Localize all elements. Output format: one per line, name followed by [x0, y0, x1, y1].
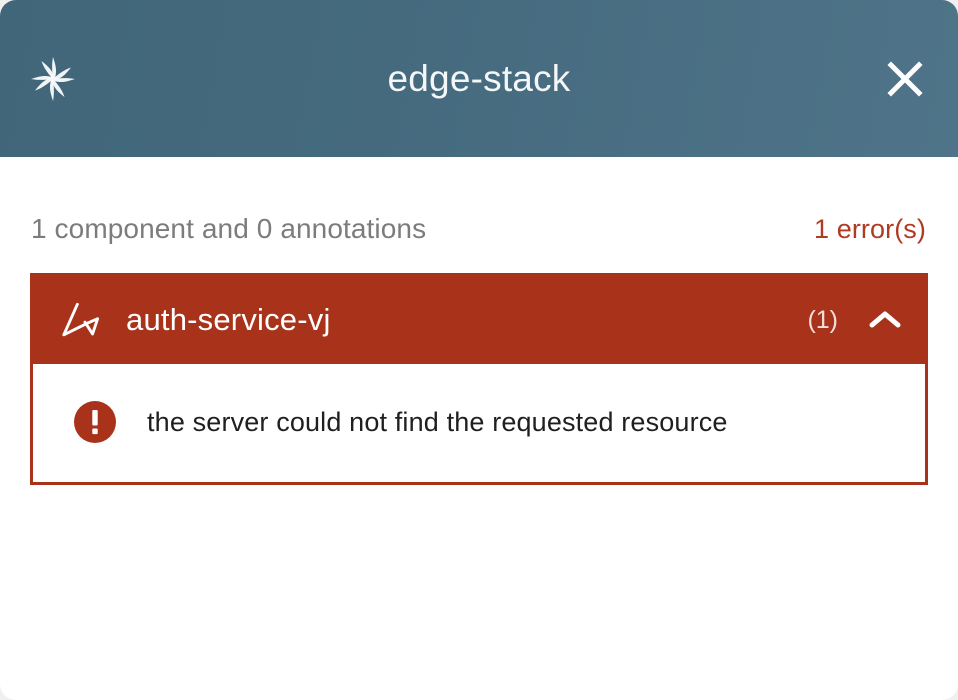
ambassador-delta-icon	[60, 301, 126, 339]
component-header-row[interactable]: auth-service-vj (1)	[30, 273, 928, 367]
component-error-count: (1)	[807, 306, 838, 335]
component-card: auth-service-vj (1)	[30, 273, 928, 485]
error-list: the server could not find the requested …	[33, 364, 925, 482]
page-title: edge-stack	[0, 58, 958, 100]
close-icon	[885, 59, 925, 99]
error-exclamation-icon	[73, 400, 147, 444]
component-name-label: auth-service-vj	[126, 302, 807, 338]
component-summary-label: 1 component and 0 annotations	[31, 213, 426, 245]
modal-header: edge-stack	[0, 0, 958, 157]
pinwheel-logo-icon	[28, 54, 78, 104]
error-count-label: 1 error(s)	[814, 214, 926, 245]
collapse-toggle-button[interactable]	[864, 299, 906, 341]
error-message-text: the server could not find the requested …	[147, 407, 728, 438]
close-button[interactable]	[878, 52, 932, 106]
chevron-up-icon	[868, 309, 902, 331]
modal-body: 1 component and 0 annotations 1 error(s)…	[0, 157, 958, 485]
summary-row: 1 component and 0 annotations 1 error(s)	[30, 213, 928, 245]
edge-stack-modal: edge-stack 1 component and 0 annotations…	[0, 0, 958, 700]
list-item: the server could not find the requested …	[33, 400, 925, 444]
